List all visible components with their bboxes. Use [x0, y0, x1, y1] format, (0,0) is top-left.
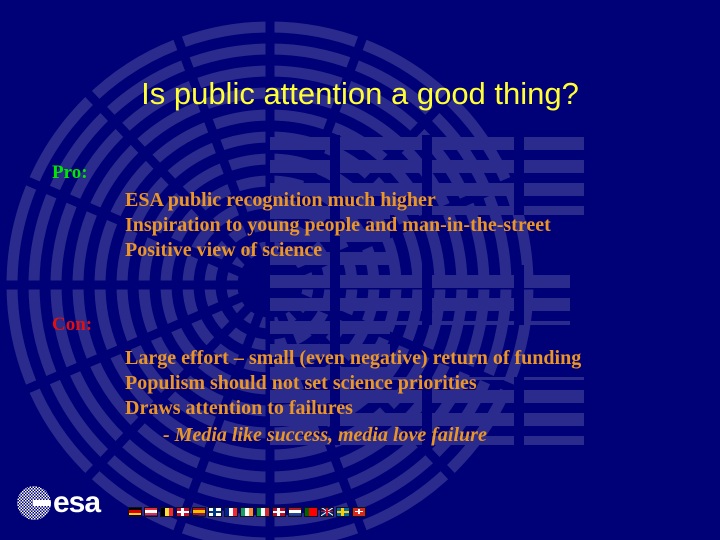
member-state-flag-strip [128, 506, 366, 517]
pro-section-label: Pro: [52, 162, 88, 184]
sweden-flag [336, 507, 350, 517]
con-section-label: Con: [52, 314, 92, 336]
list-item: Positive view of science [125, 238, 551, 263]
switzerland-flag [352, 507, 366, 517]
netherlands-flag [288, 507, 302, 517]
germany-flag [128, 507, 142, 517]
united-kingdom-flag [320, 507, 334, 517]
esa-logo-icon [16, 485, 52, 521]
portugal-flag [304, 507, 318, 517]
italy-flag [256, 507, 270, 517]
con-item-list: Large effort – small (even negative) ret… [125, 346, 581, 449]
list-subitem: - Media like success, media love failure [125, 421, 581, 449]
esa-footer-logo: esa [16, 483, 100, 523]
spain-flag [192, 507, 206, 517]
list-item: Draws attention to failures [125, 396, 581, 421]
list-item: ESA public recognition much higher [125, 188, 551, 213]
ireland-flag [240, 507, 254, 517]
belgium-flag [160, 507, 174, 517]
list-item: Inspiration to young people and man-in-t… [125, 213, 551, 238]
slide-title: Is public attention a good thing? [0, 76, 720, 112]
norway-flag [272, 507, 286, 517]
list-item: Large effort – small (even negative) ret… [125, 346, 581, 371]
france-flag [224, 507, 238, 517]
esa-logo-wordmark: esa [53, 488, 100, 518]
presentation-slide: Is public attention a good thing? Pro: E… [0, 0, 720, 540]
finland-flag [208, 507, 222, 517]
list-item: Populism should not set science prioriti… [125, 371, 581, 396]
austria-flag [144, 507, 158, 517]
esa-logo-mark-graphic [16, 485, 52, 521]
pro-item-list: ESA public recognition much higher Inspi… [125, 188, 551, 263]
denmark-flag [176, 507, 190, 517]
